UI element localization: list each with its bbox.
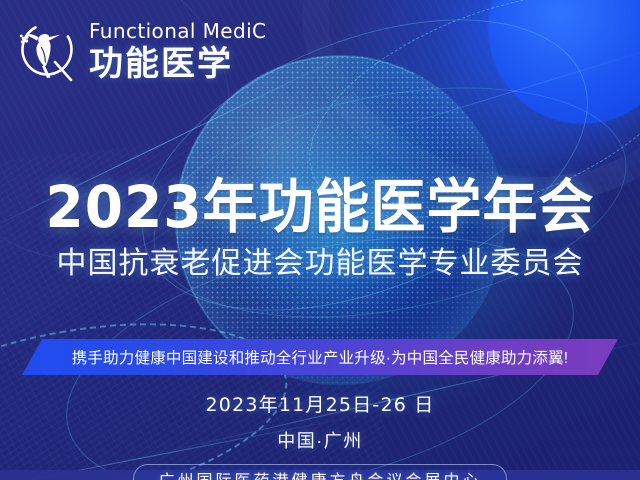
event-venue-pill: 广州国际医药港健康方舟会议会展中心 <box>133 464 506 480</box>
slogan-text: 携手助力健康中国建设和推动全行业产业升级·为中国全民健康助力添翼! <box>72 346 569 368</box>
conference-poster: Functional MediC 功能医学 2023年功能医学年会 中国抗衰老促… <box>0 0 640 480</box>
slogan-banner: 携手助力健康中国建设和推动全行业产业升级·为中国全民健康助力添翼! <box>22 339 618 375</box>
blue-orb-decoration <box>488 0 640 124</box>
main-title: 2023年功能医学年会 <box>0 178 640 236</box>
title-block: 2023年功能医学年会 中国抗衰老促进会功能医学专业委员会 <box>0 180 640 279</box>
brand-logo: Functional MediC 功能医学 <box>14 16 266 84</box>
event-date: 2023年11月25日-26 日 <box>0 390 640 417</box>
event-info-block: 2023年11月25日-26 日 中国·广州 广州国际医药港健康方舟会议会展中心 <box>0 390 640 480</box>
logo-english-name: Functional MediC <box>89 21 266 41</box>
logo-chinese-name: 功能医学 <box>89 47 266 81</box>
event-city: 中国·广州 <box>0 427 640 453</box>
kingfisher-bird-in-circle-logo-icon <box>14 16 80 84</box>
light-streak-4 <box>337 45 640 145</box>
event-venue: 广州国际医药港健康方舟会议会展中心 <box>158 467 481 480</box>
sub-title: 中国抗衰老促进会功能医学专业委员会 <box>0 249 640 279</box>
logo-wordmark: Functional MediC 功能医学 <box>89 19 266 81</box>
